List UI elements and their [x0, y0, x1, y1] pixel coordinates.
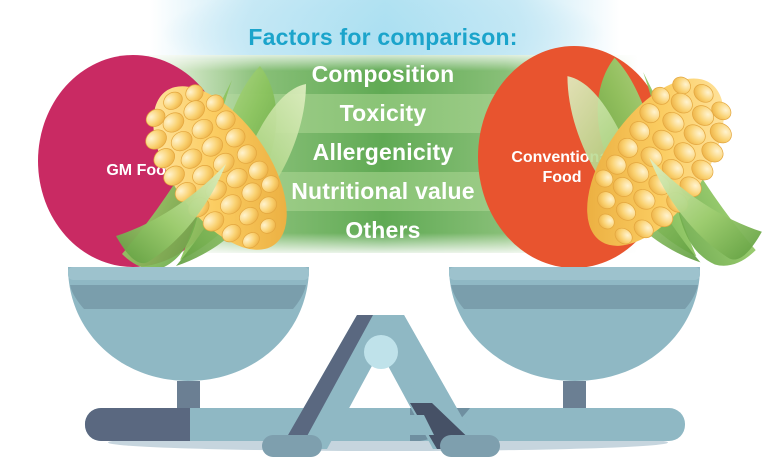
- factor-item-toxicity: Toxicity: [0, 94, 766, 133]
- infographic-canvas: GM Food Conventional Food: [0, 0, 766, 466]
- balance-scale-icon: [0, 255, 766, 466]
- factor-item-composition: Composition: [0, 55, 766, 94]
- factors-list: Composition Toxicity Allergenicity Nutri…: [0, 55, 766, 250]
- scale-pan-right: [449, 267, 700, 409]
- page-title: Factors for comparison:: [0, 24, 766, 51]
- factor-item-allergenicity: Allergenicity: [0, 133, 766, 172]
- scale-pan-left: [68, 267, 309, 409]
- factor-item-others: Others: [0, 211, 766, 250]
- factor-item-nutritional-value: Nutritional value: [0, 172, 766, 211]
